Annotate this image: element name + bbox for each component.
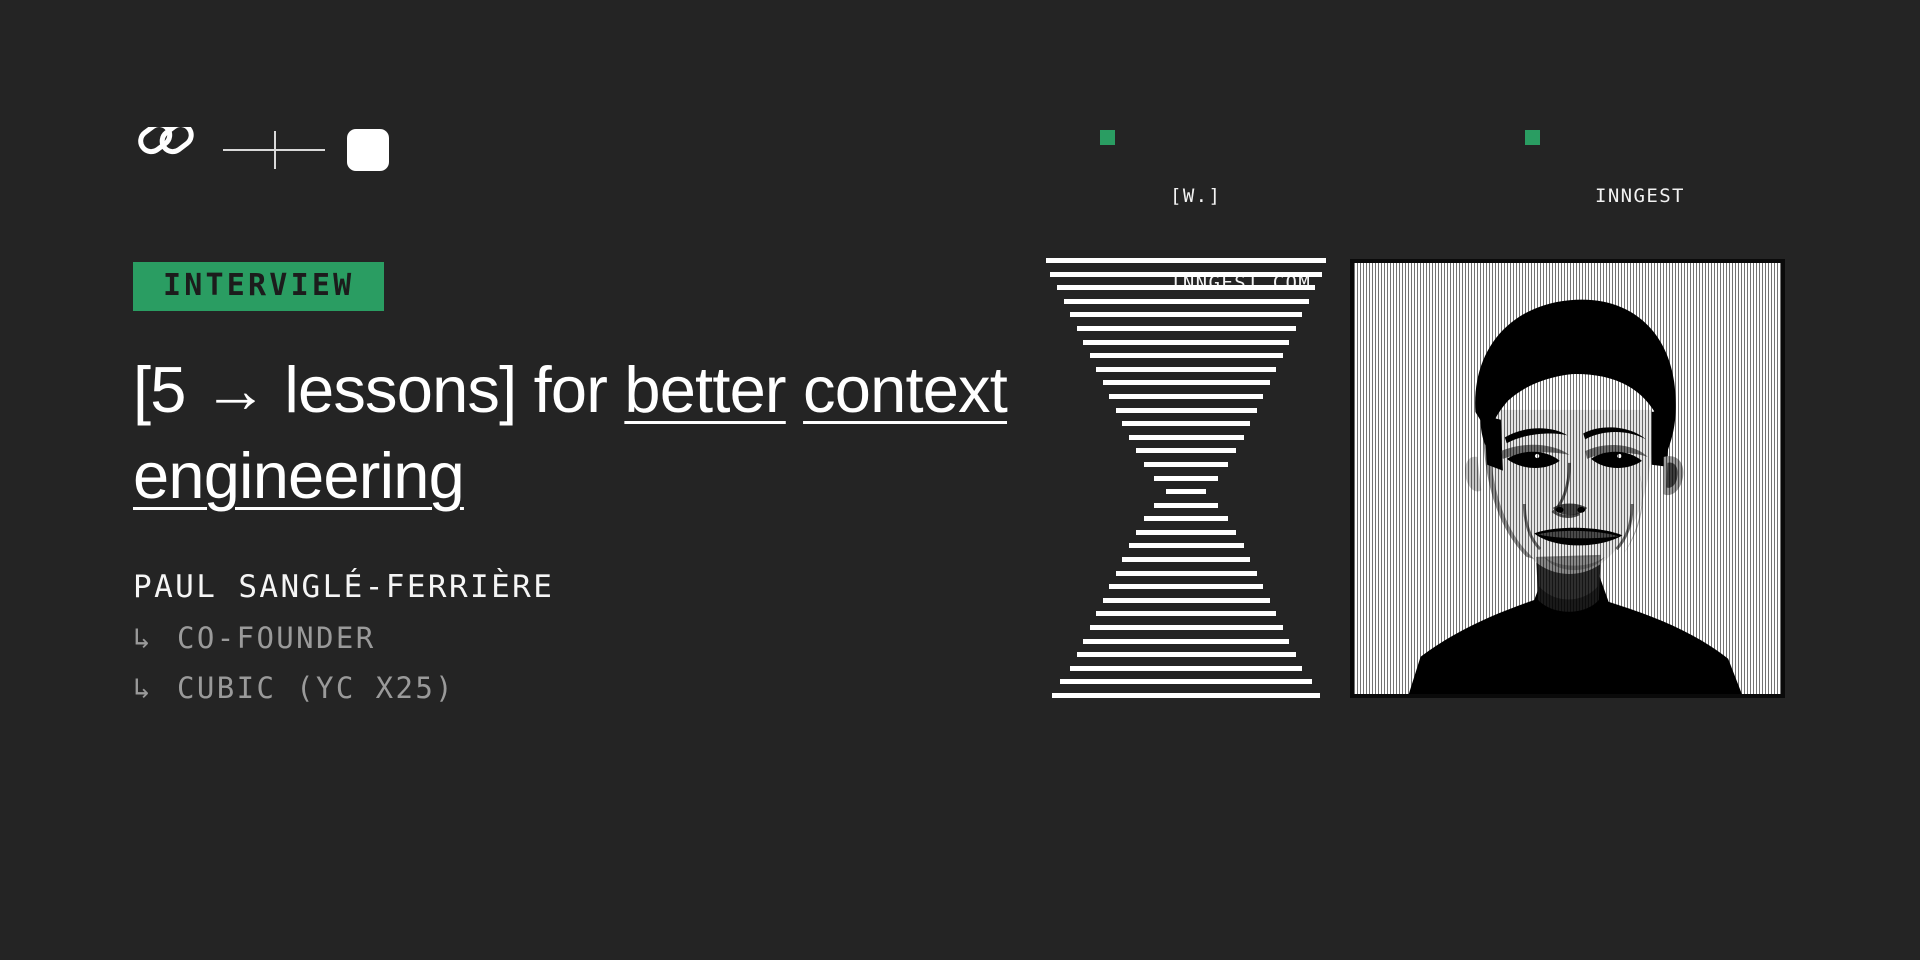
hourglass-bar bbox=[1103, 598, 1270, 603]
corner-arrow-icon: ↳ bbox=[133, 617, 177, 659]
hourglass-bars-graphic bbox=[1046, 258, 1326, 698]
hourglass-bar bbox=[1090, 353, 1283, 358]
hourglass-bar bbox=[1129, 435, 1244, 440]
hourglass-bar bbox=[1144, 516, 1228, 521]
hourglass-bar bbox=[1154, 503, 1218, 508]
header-bar: [W.] INNGEST.COM INNGEST _ EST....2021 bbox=[0, 0, 1920, 200]
hourglass-bar bbox=[1154, 476, 1218, 481]
byline: PAUL SANGLÉ-FERRIÈRE ↳ CO-FOUNDER ↳ CUBI… bbox=[133, 567, 1093, 709]
hourglass-bar bbox=[1144, 462, 1228, 467]
corner-arrow-icon: ↳ bbox=[133, 667, 177, 709]
hourglass-bar bbox=[1050, 272, 1322, 277]
hourglass-bar bbox=[1077, 652, 1296, 657]
hourglass-bar bbox=[1096, 611, 1276, 616]
hourglass-bar bbox=[1046, 258, 1326, 263]
hourglass-bar bbox=[1103, 380, 1270, 385]
hourglass-bar bbox=[1109, 584, 1263, 589]
green-square-bullet-icon bbox=[1525, 130, 1540, 145]
poster-canvas: [W.] INNGEST.COM INNGEST _ EST....2021 I… bbox=[0, 0, 1920, 960]
hourglass-bar bbox=[1052, 693, 1320, 698]
content-column: INTERVIEW [5 → lessons] for better conte… bbox=[133, 262, 1093, 709]
byline-role-label: CO-FOUNDER bbox=[177, 617, 376, 659]
hourglass-bar bbox=[1122, 421, 1250, 426]
headline-part-1: [5 → lessons] for bbox=[133, 353, 624, 426]
headline-part-2 bbox=[786, 353, 803, 426]
page-title: [5 → lessons] for better context enginee… bbox=[133, 347, 1053, 519]
hourglass-bar bbox=[1096, 367, 1276, 372]
category-badge: INTERVIEW bbox=[133, 262, 384, 311]
halftone-portrait-photo bbox=[1350, 259, 1785, 698]
hourglass-bar bbox=[1116, 571, 1257, 576]
hourglass-bar bbox=[1057, 285, 1315, 290]
hourglass-bar bbox=[1116, 408, 1257, 413]
cross-rule-icon bbox=[223, 149, 325, 151]
hourglass-bar bbox=[1090, 625, 1283, 630]
meta-brand-line1: INNGEST bbox=[1595, 182, 1762, 211]
hourglass-bar bbox=[1070, 666, 1302, 671]
hourglass-bar bbox=[1136, 448, 1236, 453]
hourglass-bar bbox=[1070, 312, 1302, 317]
hourglass-bar bbox=[1083, 639, 1289, 644]
hourglass-bar bbox=[1064, 299, 1309, 304]
hourglass-bar bbox=[1166, 489, 1206, 494]
byline-role-row: ↳ CO-FOUNDER bbox=[133, 617, 1093, 659]
hourglass-bar bbox=[1077, 326, 1296, 331]
hourglass-bar bbox=[1083, 340, 1289, 345]
portrait-inner bbox=[1354, 263, 1781, 694]
hourglass-bar bbox=[1129, 543, 1244, 548]
inngest-infinity-logo-icon[interactable] bbox=[133, 127, 197, 173]
brand-mark[interactable] bbox=[133, 122, 389, 178]
rounded-square-icon bbox=[347, 129, 389, 171]
byline-name: PAUL SANGLÉ-FERRIÈRE bbox=[133, 567, 1093, 609]
byline-company-row: ↳ CUBIC (YC X25) bbox=[133, 667, 1093, 709]
headline-underlined-1: better bbox=[624, 353, 785, 426]
hourglass-bar bbox=[1060, 679, 1312, 684]
hourglass-bar bbox=[1109, 394, 1263, 399]
byline-company-label: CUBIC (YC X25) bbox=[177, 667, 455, 709]
green-square-bullet-icon bbox=[1100, 130, 1115, 145]
meta-website-line1: [W.] bbox=[1170, 182, 1311, 211]
hourglass-bar bbox=[1136, 530, 1236, 535]
hourglass-bar bbox=[1122, 557, 1250, 562]
